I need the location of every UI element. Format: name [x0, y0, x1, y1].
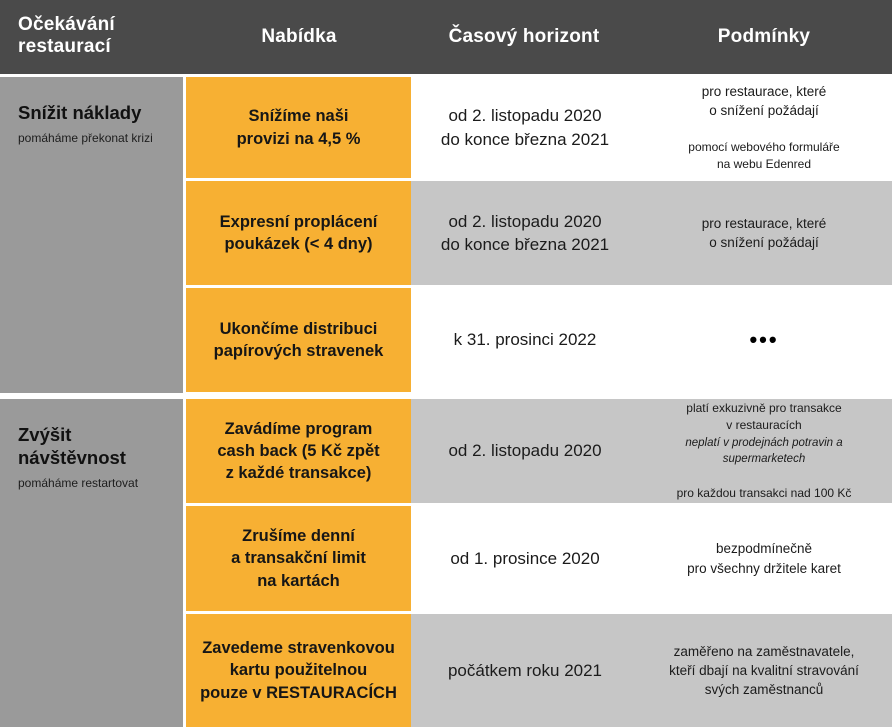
condition-line: pomocí webového formuláře — [688, 139, 839, 156]
offer-text: Zavedeme stravenkovou kartu použitelnou … — [192, 637, 405, 703]
time-line: do konce března 2021 — [441, 233, 609, 256]
condition-block: zaměřeno na zaměstnavatele, kteří dbají … — [669, 642, 859, 699]
offer-line: Expresní proplácení — [220, 211, 378, 233]
column-header-expectation-line1: Očekávání — [18, 14, 186, 36]
offer-line: Zrušíme denní — [231, 525, 366, 547]
cell-conditions: pro restaurace, které o snížení požádají — [636, 181, 892, 285]
condition-line: bezpodmínečně — [687, 539, 841, 558]
group-title: Zvýšit návštěvnost — [18, 423, 169, 469]
condition-line: pro restaurace, které — [702, 214, 827, 233]
condition-line: svých zaměstnanců — [669, 680, 859, 699]
time-line: od 1. prosince 2020 — [450, 547, 599, 570]
time-text: od 1. prosince 2020 — [450, 547, 599, 570]
condition-line: o snížení požádají — [702, 233, 827, 252]
offer-text: Zrušíme denní a transakční limit na kart… — [223, 525, 374, 591]
condition-block: pro restaurace, které o snížení požádají — [702, 82, 827, 120]
group-subtitle: pomáháme restartovat — [18, 476, 169, 492]
condition-line: kteří dbají na kvalitní stravování — [669, 661, 859, 680]
time-text: od 2. listopadu 2020 — [448, 439, 601, 462]
column-header-expectation-line2: restaurací — [18, 36, 186, 58]
offer-line: Zavedeme stravenkovou — [200, 637, 397, 659]
comparison-table: Očekávání restaurací Nabídka Časový hori… — [0, 0, 892, 727]
condition-line: platí exkuzivně pro transakce — [686, 400, 841, 417]
time-line: do konce března 2021 — [441, 128, 609, 151]
cell-conditions: ••• — [636, 288, 892, 392]
cell-time-horizon: od 1. prosince 2020 — [414, 506, 636, 611]
group-title: Snížit náklady — [18, 101, 169, 124]
offer-text: Zavádíme program cash back (5 Kč zpět z … — [209, 418, 387, 484]
condition-line: na webu Edenred — [688, 156, 839, 173]
offer-line: pouze v RESTAURACÍCH — [200, 682, 397, 704]
cell-conditions: zaměřeno na zaměstnavatele, kteří dbají … — [636, 614, 892, 727]
table-header-band: Očekávání restaurací Nabídka Časový hori… — [0, 0, 892, 74]
condition-note: neplatí v prodejnách potravin a supermar… — [648, 435, 880, 468]
time-text: od 2. listopadu 2020 do konce března 202… — [441, 104, 609, 151]
offer-text: Ukončíme distribuci papírových stravenek — [206, 318, 392, 362]
offer-line: a transakční limit — [231, 547, 366, 569]
offer-line: Zavádíme program — [217, 418, 379, 440]
offer-line: Ukončíme distribuci — [214, 318, 384, 340]
group-title-line2: návštěvnost — [18, 446, 169, 469]
cell-offer: Snížíme naši provizi na 4,5 % — [186, 77, 411, 178]
table-row: Zrušíme denní a transakční limit na kart… — [186, 506, 892, 611]
offer-text: Snížíme naši provizi na 4,5 % — [229, 105, 369, 149]
condition-line: zaměřeno na zaměstnavatele, — [669, 642, 859, 661]
time-text: k 31. prosinci 2022 — [454, 328, 597, 351]
offer-line: kartu použitelnou — [200, 659, 397, 681]
cell-conditions: platí exkuzivně pro transakce v restaura… — [636, 399, 892, 503]
cell-time-horizon: od 2. listopadu 2020 do konce března 202… — [414, 181, 636, 285]
offer-line: provizi na 4,5 % — [237, 128, 361, 150]
cell-offer: Expresní proplácení poukázek (< 4 dny) — [186, 181, 411, 285]
time-line: od 2. listopadu 2020 — [441, 210, 609, 233]
table-row: Zavedeme stravenkovou kartu použitelnou … — [186, 614, 892, 727]
column-header-time-horizon: Časový horizont — [412, 26, 636, 48]
condition-block: bezpodmínečně pro všechny držitele karet — [687, 539, 841, 577]
time-line: od 2. listopadu 2020 — [441, 104, 609, 127]
cell-offer: Zavádíme program cash back (5 Kč zpět z … — [186, 399, 411, 503]
group-label-reduce-costs: Snížit náklady pomáháme překonat krizi — [0, 77, 183, 393]
cell-conditions: bezpodmínečně pro všechny držitele karet — [636, 506, 892, 611]
table-row: Snížíme naši provizi na 4,5 % od 2. list… — [186, 77, 892, 178]
cell-time-horizon: od 2. listopadu 2020 — [414, 399, 636, 503]
table-row: Expresní proplácení poukázek (< 4 dny) o… — [186, 181, 892, 285]
cell-time-horizon: počátkem roku 2021 — [414, 614, 636, 727]
time-line: k 31. prosinci 2022 — [454, 328, 597, 351]
condition-line: v restauracích — [686, 417, 841, 434]
time-line: od 2. listopadu 2020 — [448, 439, 601, 462]
condition-line: pro restaurace, které — [702, 82, 827, 101]
table-row: Zavádíme program cash back (5 Kč zpět z … — [186, 399, 892, 503]
group-title-line1: Zvýšit — [18, 423, 169, 446]
group-label-increase-visits: Zvýšit návštěvnost pomáháme restartovat — [0, 399, 183, 727]
time-line: počátkem roku 2021 — [448, 659, 602, 682]
offer-line: poukázek (< 4 dny) — [220, 233, 378, 255]
condition-block-secondary: pro každou transakci nad 100 Kč — [677, 485, 852, 502]
condition-block-secondary: pomocí webového formuláře na webu Edenre… — [688, 139, 839, 173]
offer-text: Expresní proplácení poukázek (< 4 dny) — [212, 211, 386, 255]
cell-time-horizon: od 2. listopadu 2020 do konce března 202… — [414, 77, 636, 178]
condition-line: o snížení požádají — [702, 101, 827, 120]
column-header-offer: Nabídka — [186, 26, 412, 48]
cell-offer: Ukončíme distribuci papírových stravenek — [186, 288, 411, 392]
cell-offer: Zavedeme stravenkovou kartu použitelnou … — [186, 614, 411, 727]
offer-line: z každé transakce) — [217, 462, 379, 484]
condition-line: pro všechny držitele karet — [687, 559, 841, 578]
cell-time-horizon: k 31. prosinci 2022 — [414, 288, 636, 392]
offer-line: cash back (5 Kč zpět — [217, 440, 379, 462]
group-subtitle: pomáháme překonat krizi — [18, 131, 169, 147]
cell-offer: Zrušíme denní a transakční limit na kart… — [186, 506, 411, 611]
column-header-expectation: Očekávání restaurací — [0, 14, 186, 59]
condition-block: pro restaurace, které o snížení požádají — [702, 214, 827, 252]
time-text: počátkem roku 2021 — [448, 659, 602, 682]
column-header-conditions: Podmínky — [636, 26, 892, 48]
offer-line: papírových stravenek — [214, 340, 384, 362]
cell-conditions: pro restaurace, které o snížení požádají… — [636, 77, 892, 178]
time-text: od 2. listopadu 2020 do konce března 202… — [441, 210, 609, 257]
conditions-ellipsis: ••• — [749, 329, 778, 351]
offer-line: Snížíme naši — [237, 105, 361, 127]
table-row: Ukončíme distribuci papírových stravenek… — [186, 288, 892, 392]
condition-block: platí exkuzivně pro transakce v restaura… — [686, 400, 841, 434]
offer-line: na kartách — [231, 570, 366, 592]
